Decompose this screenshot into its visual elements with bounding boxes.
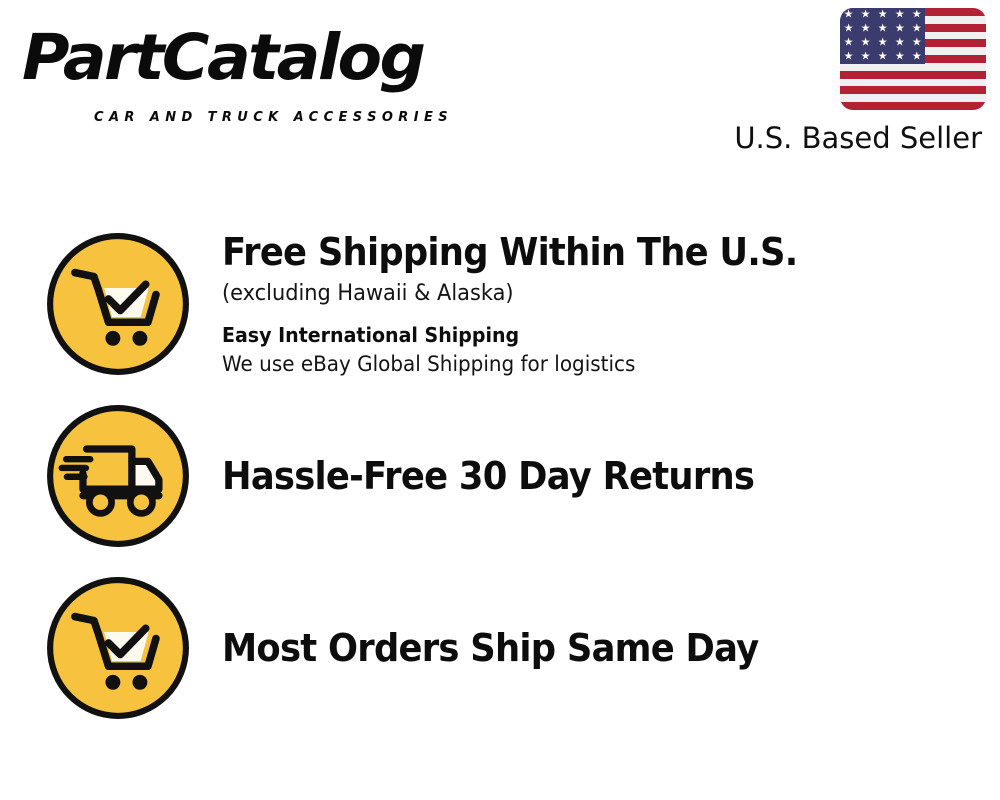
flag-star: ★	[912, 10, 922, 21]
feature-text: Hassle-Free 30 Day Returns	[222, 453, 982, 499]
flag-stripe	[840, 79, 986, 87]
us-based-seller-badge: ★★★★★★★★★★★★★★★★★★★★ U.S. Based Seller	[716, 8, 986, 155]
feature-row: Hassle-Free 30 Day Returns	[0, 390, 1000, 562]
flag-star: ★	[878, 38, 888, 49]
feature-row: Free Shipping Within The U.S. (excluding…	[0, 218, 1000, 390]
flag-stripe	[840, 94, 986, 102]
feature-title: Most Orders Ship Same Day	[222, 625, 929, 671]
feature-title: Hassle-Free 30 Day Returns	[222, 453, 929, 499]
flag-stripe	[840, 86, 986, 94]
flag-star: ★	[861, 24, 871, 35]
feature-title: Free Shipping Within The U.S.	[222, 229, 929, 275]
flag-star: ★	[844, 52, 854, 63]
flag-stripe	[840, 102, 986, 110]
shopping-cart-check-icon	[45, 575, 191, 721]
flag-star: ★	[895, 52, 905, 63]
brand-tagline: CAR AND TRUCK ACCESSORIES	[94, 110, 453, 125]
flag-star: ★	[844, 24, 854, 35]
flag-star: ★	[861, 38, 871, 49]
flag-star: ★	[895, 38, 905, 49]
delivery-truck-icon	[45, 403, 191, 549]
brand-wordmark: PartCatalog	[22, 22, 423, 94]
flag-star: ★	[861, 10, 871, 21]
feature-text: Free Shipping Within The U.S. (excluding…	[222, 229, 982, 379]
page-header: PartCatalog CAR AND TRUCK ACCESSORIES ★★…	[0, 0, 1000, 175]
feature-note: (excluding Hawaii & Alaska)	[222, 279, 944, 309]
flag-star: ★	[844, 38, 854, 49]
flag-star: ★	[912, 24, 922, 35]
flag-star: ★	[861, 52, 871, 63]
flag-star: ★	[844, 10, 854, 21]
seller-label: U.S. Based Seller	[716, 121, 982, 155]
us-flag-icon: ★★★★★★★★★★★★★★★★★★★★	[840, 8, 986, 110]
flag-star: ★	[912, 38, 922, 49]
flag-stripe	[840, 71, 986, 79]
flag-star: ★	[878, 52, 888, 63]
partcatalog-logo[interactable]: PartCatalog CAR AND TRUCK ACCESSORIES	[22, 22, 492, 114]
feature-list: Free Shipping Within The U.S. (excluding…	[0, 218, 1000, 734]
flag-stripe	[840, 63, 986, 71]
flag-star: ★	[895, 24, 905, 35]
flag-canton: ★★★★★★★★★★★★★★★★★★★★	[840, 8, 925, 64]
feature-text: Most Orders Ship Same Day	[222, 625, 982, 671]
feature-row: Most Orders Ship Same Day	[0, 562, 1000, 734]
feature-subtitle: Easy International Shipping	[222, 321, 944, 349]
flag-star: ★	[878, 10, 888, 21]
feature-description: We use eBay Global Shipping for logistic…	[222, 350, 944, 379]
shopping-cart-check-icon	[45, 231, 191, 377]
flag-star: ★	[895, 10, 905, 21]
flag-star: ★	[912, 52, 922, 63]
flag-star: ★	[878, 24, 888, 35]
